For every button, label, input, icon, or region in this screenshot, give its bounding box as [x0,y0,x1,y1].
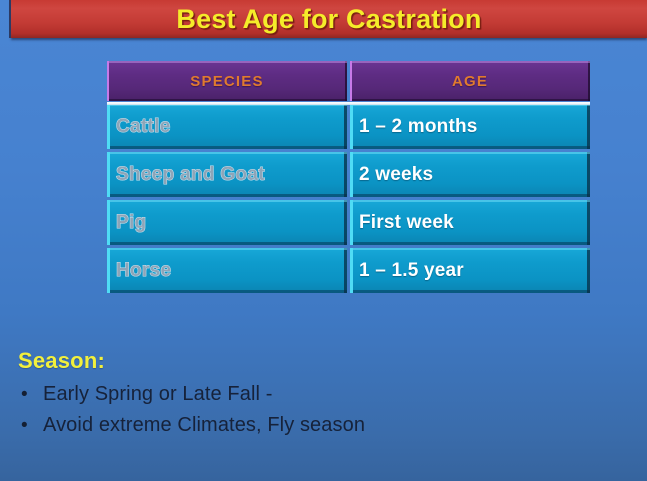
best-age-table: SPECIES AGE Cattle 1 – 2 months Sheep an… [107,61,590,296]
species-value: Sheep and Goat [116,164,265,186]
table-row: Cattle 1 – 2 months [107,104,590,149]
table-cell-age: First week [350,200,590,245]
season-heading: Season: [18,348,618,374]
table-header-label-age: AGE [452,73,488,90]
title-banner: Best Age for Castration [11,0,647,38]
bullet-icon: • [18,416,43,435]
table-row: Sheep and Goat 2 weeks [107,152,590,197]
bullet-icon: • [18,385,43,404]
bullet-label: Early Spring or Late Fall - [43,383,272,406]
table-header-cell-age: AGE [350,61,590,101]
table-cell-age: 1 – 1.5 year [350,248,590,293]
list-item: • Avoid extreme Climates, Fly season [18,414,618,437]
table-cell-age: 1 – 2 months [350,104,590,149]
species-value: Cattle [116,116,171,138]
age-value: 1 – 1.5 year [359,260,464,282]
table-cell-species: Horse [107,248,347,293]
table-header-row: SPECIES AGE [107,61,590,101]
species-value: Horse [116,260,171,282]
season-section: Season: • Early Spring or Late Fall - • … [18,348,618,445]
table-cell-age: 2 weeks [350,152,590,197]
table-header-label-species: SPECIES [190,73,263,90]
table-cell-species: Cattle [107,104,347,149]
list-item: • Early Spring or Late Fall - [18,383,618,406]
table-row: Horse 1 – 1.5 year [107,248,590,293]
page-title: Best Age for Castration [176,4,481,35]
bullet-label: Avoid extreme Climates, Fly season [43,414,365,437]
table-header-separator [107,102,590,105]
slide-canvas: Best Age for Castration SPECIES AGE Catt… [0,0,647,481]
species-value: Pig [116,212,146,234]
table-header-cell-species: SPECIES [107,61,347,101]
age-value: First week [359,212,454,234]
table-row: Pig First week [107,200,590,245]
age-value: 2 weeks [359,164,433,186]
table-cell-species: Sheep and Goat [107,152,347,197]
age-value: 1 – 2 months [359,116,478,138]
table-cell-species: Pig [107,200,347,245]
